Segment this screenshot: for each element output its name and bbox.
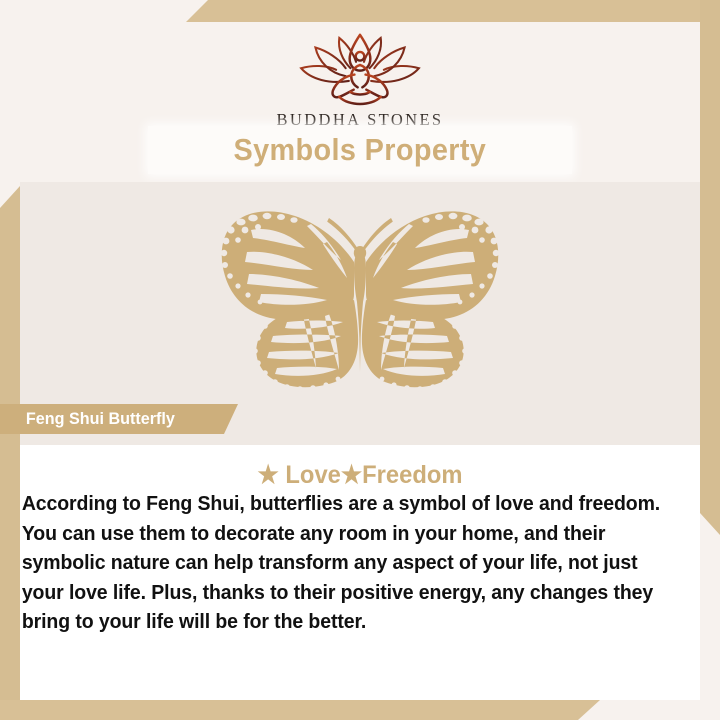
category-tag-label: Feng Shui Butterfly xyxy=(26,409,175,429)
category-tag: Feng Shui Butterfly xyxy=(0,404,238,434)
frame-top-band xyxy=(186,0,720,22)
frame-right-band xyxy=(700,0,720,535)
description-text: According to Feng Shui, butterflies are … xyxy=(18,490,667,638)
brand-logo: BUDDHA STONES xyxy=(20,30,700,130)
page-title-banner: Symbols Property xyxy=(148,126,572,174)
header-section: BUDDHA STONES Symbols Property xyxy=(20,22,700,182)
page-title: Symbols Property xyxy=(234,132,487,168)
butterfly-icon xyxy=(195,196,525,408)
section-subheading: ★ Love★Freedom xyxy=(37,460,683,490)
frame-left-band xyxy=(0,186,20,720)
frame-bottom-band xyxy=(0,700,600,720)
poster-canvas: BUDDHA STONES Symbols Property xyxy=(0,0,720,720)
lotus-meditation-icon xyxy=(280,30,440,108)
description-panel: ★ Love★Freedom According to Feng Shui, b… xyxy=(20,445,700,700)
